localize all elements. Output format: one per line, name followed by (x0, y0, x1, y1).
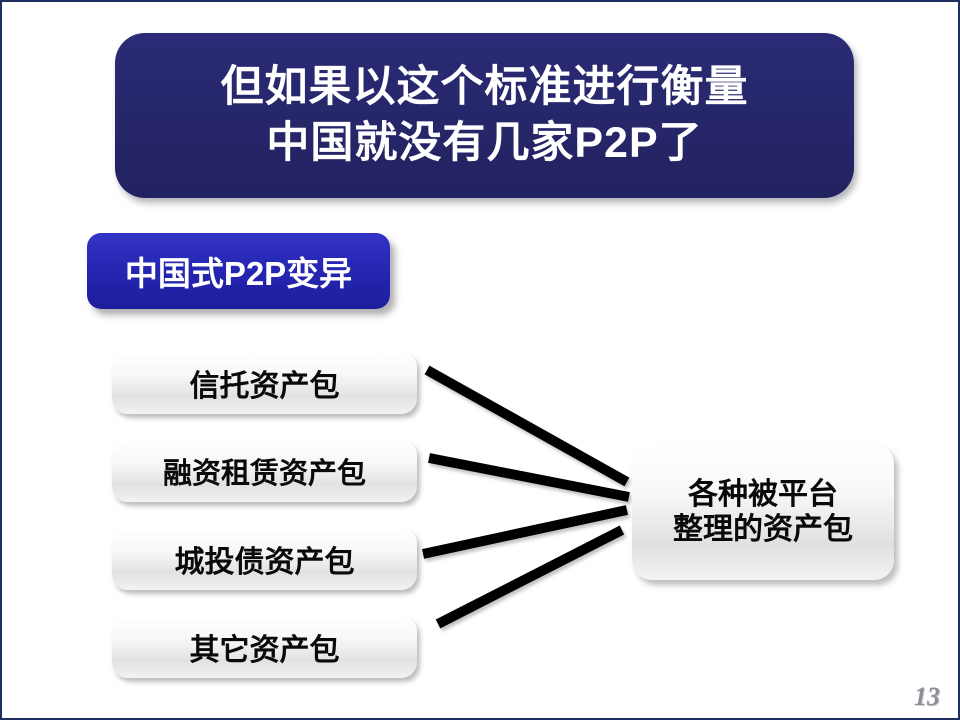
connector-line-2 (429, 458, 629, 497)
slide-title-line-2: 中国就没有几家P2P了 (266, 116, 702, 171)
source-box-label: 融资租赁资产包 (163, 450, 366, 492)
target-box-line-2: 整理的资产包 (673, 512, 853, 547)
slide-title-line-1: 但如果以这个标准进行衡量 (221, 60, 749, 115)
source-box-other-asset-package: 其它资产包 (112, 616, 417, 678)
slide-title-banner: 但如果以这个标准进行衡量 中国就没有几家P2P了 (115, 33, 854, 198)
section-badge-label: 中国式P2P变异 (125, 247, 352, 295)
section-badge: 中国式P2P变异 (87, 233, 390, 309)
target-box-line-1: 各种被平台 (688, 477, 838, 512)
page-number: 13 (914, 682, 940, 712)
source-box-finance-lease-asset-package: 融资租赁资产包 (112, 440, 417, 502)
target-box-platform-organized-asset-package: 各种被平台 整理的资产包 (632, 444, 894, 580)
source-box-label: 城投债资产包 (175, 537, 355, 581)
connector-line-1 (427, 370, 627, 482)
source-box-trust-asset-package: 信托资产包 (112, 352, 417, 414)
source-box-label: 信托资产包 (190, 361, 340, 405)
connector-line-3 (423, 510, 627, 554)
connector-line-4 (438, 530, 622, 624)
source-box-label: 其它资产包 (190, 625, 340, 669)
slide-canvas: 但如果以这个标准进行衡量 中国就没有几家P2P了 中国式P2P变异 信托资产包 … (0, 0, 960, 720)
source-box-urban-investment-bond-asset-package: 城投债资产包 (112, 528, 417, 590)
